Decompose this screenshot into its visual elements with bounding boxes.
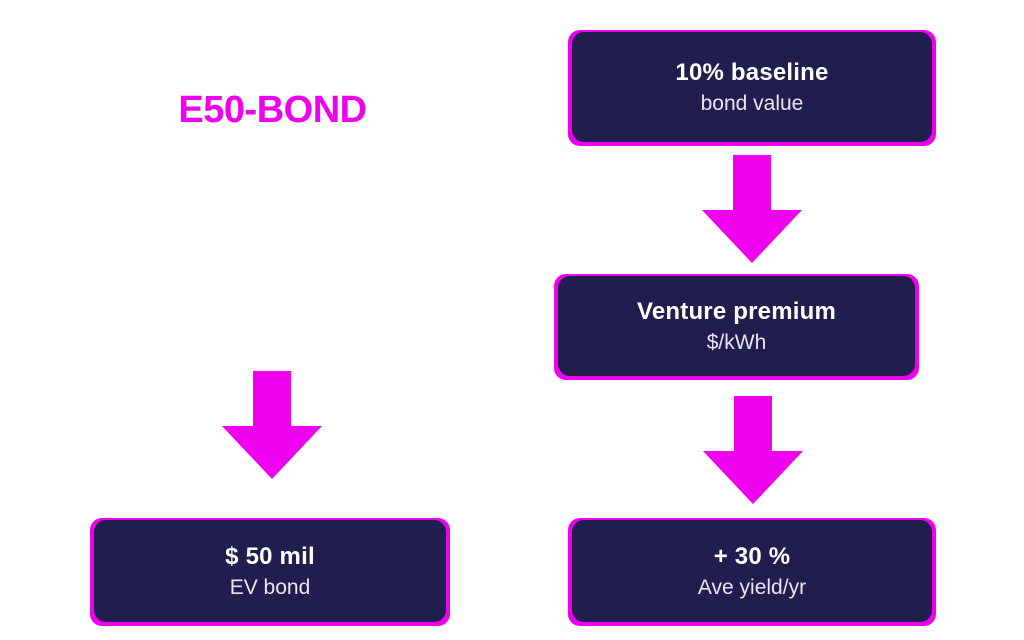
down-arrow-icon — [222, 371, 322, 479]
isometric-cube-svg — [197, 188, 347, 330]
down-arrow-icon — [703, 396, 803, 504]
node-baseline[interactable]: 10% baseline bond value — [572, 32, 932, 142]
infographic-canvas: Modular E50-BOND — [0, 0, 1024, 640]
node-baseline-subtitle: bond value — [701, 90, 804, 117]
node-ave-yield-title: + 30 % — [714, 542, 791, 572]
node-ev-bond-title: $ 50 mil — [225, 542, 315, 572]
arrow-down-right-2 — [703, 396, 803, 504]
node-venture-premium-subtitle: $/kWh — [707, 329, 767, 356]
headline-subtitle: E50-BOND — [0, 88, 545, 132]
node-ev-bond[interactable]: $ 50 mil EV bond — [94, 520, 446, 622]
headline-title: Modular — [0, 26, 545, 82]
arrow-down-right-1 — [702, 155, 802, 263]
node-baseline-title: 10% baseline — [675, 58, 828, 88]
down-arrow-icon — [702, 155, 802, 263]
node-venture-premium-title: Venture premium — [637, 297, 836, 327]
node-ave-yield-subtitle: Ave yield/yr — [698, 574, 806, 601]
node-venture-premium[interactable]: Venture premium $/kWh — [558, 276, 915, 376]
node-ave-yield[interactable]: + 30 % Ave yield/yr — [572, 520, 932, 622]
node-ev-bond-subtitle: EV bond — [230, 574, 311, 601]
arrow-down-left-1 — [222, 371, 322, 479]
modular-cubes-icon — [197, 188, 347, 330]
headline-block: Modular E50-BOND — [0, 26, 545, 132]
